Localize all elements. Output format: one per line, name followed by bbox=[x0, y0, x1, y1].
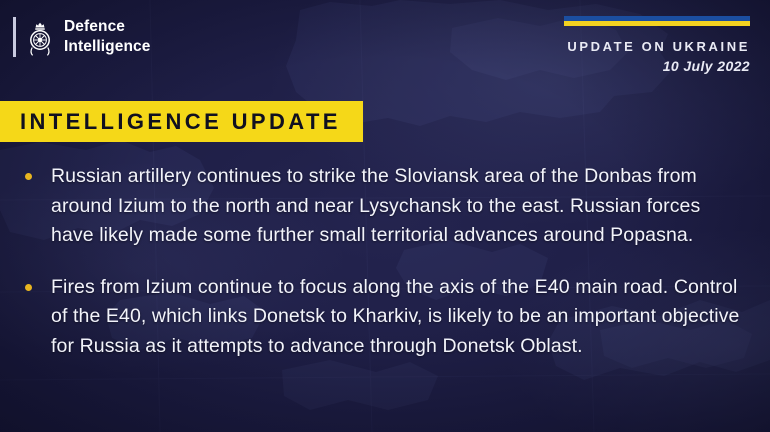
brand-divider bbox=[13, 17, 16, 57]
bullet-paragraph: Fires from Izium continue to focus along… bbox=[51, 273, 744, 362]
update-date: 10 July 2022 bbox=[564, 58, 750, 74]
bullet-list: Russian artillery continues to strike th… bbox=[22, 162, 744, 361]
list-item: Fires from Izium continue to focus along… bbox=[22, 273, 744, 362]
bullet-paragraph: Russian artillery continues to strike th… bbox=[51, 162, 744, 251]
update-label: UPDATE ON UKRAINE bbox=[564, 39, 750, 55]
intelligence-update-slide: Defence Intelligence UPDATE ON UKRAINE 1… bbox=[0, 0, 770, 432]
royal-crest-icon bbox=[25, 17, 55, 57]
bullet-dot-icon bbox=[25, 284, 32, 291]
bullet-dot-icon bbox=[25, 173, 32, 180]
flag-yellow-stripe bbox=[564, 21, 750, 26]
list-item: Russian artillery continues to strike th… bbox=[22, 162, 744, 251]
defence-intelligence-branding: Defence Intelligence bbox=[13, 17, 150, 57]
organisation-name: Defence Intelligence bbox=[64, 17, 150, 57]
update-header: UPDATE ON UKRAINE 10 July 2022 bbox=[564, 16, 750, 74]
intelligence-update-banner: INTELLIGENCE UPDATE bbox=[0, 101, 363, 142]
banner-title: INTELLIGENCE UPDATE bbox=[20, 111, 341, 133]
ukraine-flag-icon bbox=[564, 16, 750, 26]
